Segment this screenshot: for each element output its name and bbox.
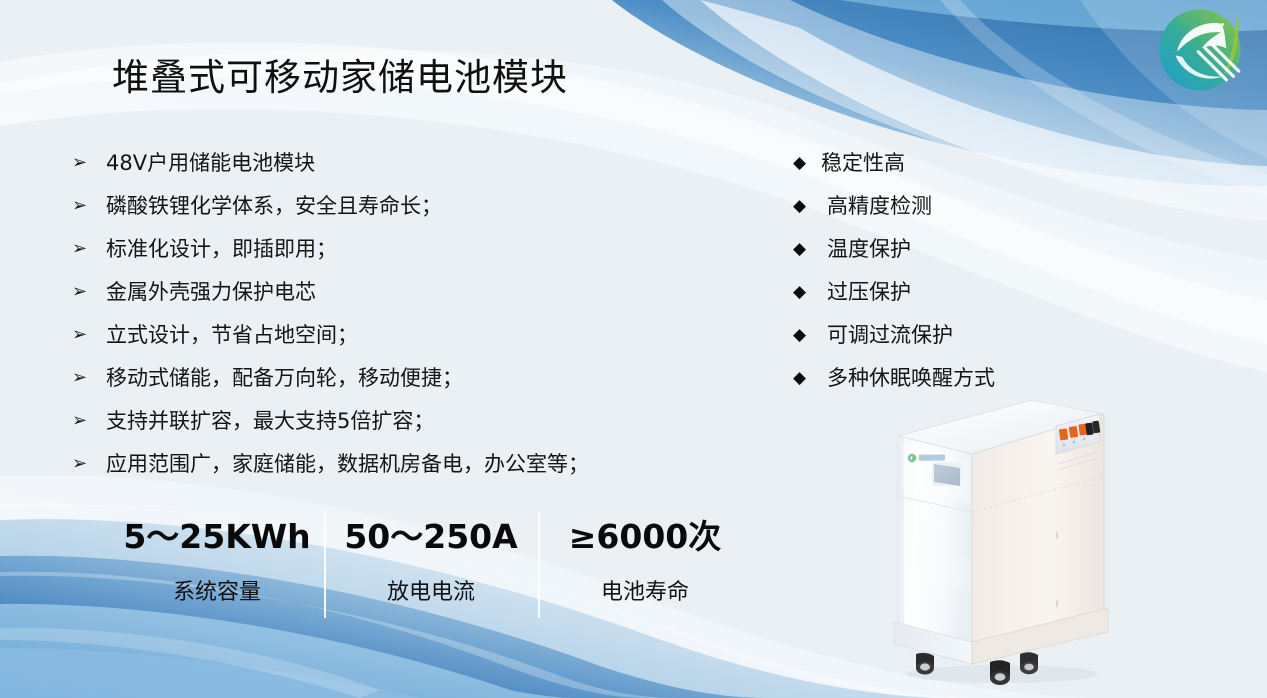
diamond-bullet-icon: ◆ [793, 148, 821, 178]
slide-canvas: 堆叠式可移动家储电池模块 ➢ 48V户用储能电池模块 ➢ 磷酸铁锂化学体系，安全… [0, 0, 1267, 698]
stat-label: 系统容量 [173, 579, 261, 607]
list-item-label: 磷酸铁锂化学体系，安全且寿命长； [106, 191, 442, 221]
stat-cell-current: 50～250A 放电电流 [324, 512, 538, 618]
company-leaf-circle-logo [1156, 6, 1244, 94]
page-title: 堆叠式可移动家储电池模块 [112, 55, 568, 101]
list-item-label: 金属外壳强力保护电芯 [106, 277, 316, 307]
list-item: ◆ 温度保护 [793, 234, 1093, 277]
list-item-label: 过压保护 [827, 277, 911, 307]
list-item-label: 48V户用储能电池模块 [106, 148, 315, 178]
list-item-label: 温度保护 [827, 234, 911, 264]
arrow-bullet-icon: ➢ [72, 406, 106, 436]
diamond-bullet-icon: ◆ [793, 363, 827, 393]
feature-list-left: ➢ 48V户用储能电池模块 ➢ 磷酸铁锂化学体系，安全且寿命长； ➢ 标准化设计… [72, 148, 752, 492]
arrow-bullet-icon: ➢ [72, 234, 106, 264]
list-item: ➢ 移动式储能，配备万向轮，移动便捷； [72, 363, 752, 406]
list-item-label: 立式设计，节省占地空间； [106, 320, 358, 350]
diamond-bullet-icon: ◆ [793, 191, 827, 221]
arrow-bullet-icon: ➢ [72, 191, 106, 221]
list-item-label: 应用范围广，家庭储能，数据机房备电，办公室等； [106, 449, 589, 479]
list-item-label: 标准化设计，即插即用； [106, 234, 337, 264]
list-item-label: 多种休眠唤醒方式 [827, 363, 995, 393]
feature-list-right: ◆ 稳定性高 ◆ 高精度检测 ◆ 温度保护 ◆ 过压保护 ◆ 可调过流保护 ◆ … [793, 148, 1093, 406]
list-item: ➢ 磷酸铁锂化学体系，安全且寿命长； [72, 191, 752, 234]
diamond-bullet-icon: ◆ [793, 320, 827, 350]
list-item-label: 高精度检测 [827, 191, 932, 221]
arrow-bullet-icon: ➢ [72, 277, 106, 307]
arrow-bullet-icon: ➢ [72, 148, 106, 178]
list-item: ➢ 48V户用储能电池模块 [72, 148, 752, 191]
stat-label: 放电电流 [387, 579, 475, 607]
list-item: ➢ 标准化设计，即插即用； [72, 234, 752, 277]
list-item-label: 支持并联扩容，最大支持5倍扩容； [106, 406, 434, 436]
list-item: ◆ 稳定性高 [793, 148, 1093, 191]
stat-value: 50～250A [344, 517, 517, 557]
list-item: ➢ 金属外壳强力保护电芯 [72, 277, 752, 320]
arrow-bullet-icon: ➢ [72, 449, 106, 479]
stat-value: ≥6000次 [569, 517, 722, 557]
list-item: ➢ 立式设计，节省占地空间； [72, 320, 752, 363]
stat-cell-cycle-life: ≥6000次 电池寿命 [538, 512, 752, 618]
list-item: ➢ 支持并联扩容，最大支持5倍扩容； [72, 406, 752, 449]
list-item-label: 稳定性高 [821, 148, 905, 178]
list-item: ➢ 应用范围广，家庭储能，数据机房备电，办公室等； [72, 449, 752, 492]
list-item-label: 移动式储能，配备万向轮，移动便捷； [106, 363, 463, 393]
list-item-label: 可调过流保护 [827, 320, 953, 350]
stat-cell-capacity: 5～25KWh 系统容量 [110, 512, 324, 618]
diamond-bullet-icon: ◆ [793, 277, 827, 307]
home-battery-cabinet-photo [880, 392, 1124, 688]
stat-value: 5～25KWh [123, 517, 310, 557]
stat-label: 电池寿命 [601, 579, 689, 607]
arrow-bullet-icon: ➢ [72, 320, 106, 350]
list-item: ◆ 过压保护 [793, 277, 1093, 320]
list-item: ◆ 高精度检测 [793, 191, 1093, 234]
arrow-bullet-icon: ➢ [72, 363, 106, 393]
stats-strip: 5～25KWh 系统容量 50～250A 放电电流 ≥6000次 电池寿命 [110, 512, 752, 618]
list-item: ◆ 可调过流保护 [793, 320, 1093, 363]
diamond-bullet-icon: ◆ [793, 234, 827, 264]
